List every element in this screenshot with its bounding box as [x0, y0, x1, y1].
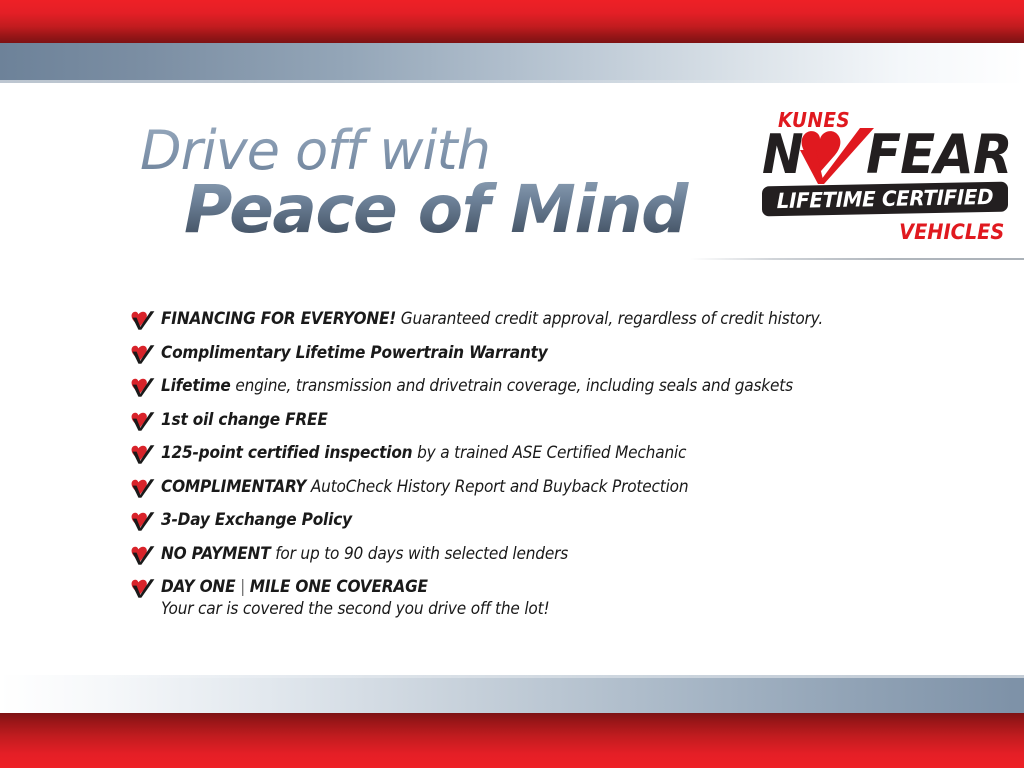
list-item: 1st oil change FREE — [131, 409, 931, 432]
kunes-no-fear-logo: KUNES N FEAR LIFETIME CERTIFIED VEHICLES — [760, 108, 1010, 248]
list-item-text: 1st oil change FREE — [161, 409, 328, 430]
heart-check-icon — [131, 478, 155, 499]
heart-check-icon — [131, 578, 155, 599]
list-item-bold: COMPLIMENTARY — [161, 477, 306, 496]
list-item-text: 3-Day Exchange Policy — [161, 509, 352, 530]
list-item: NO PAYMENT for up to 90 days with select… — [131, 543, 931, 566]
list-item-text: DAY ONE | MILE ONE COVERAGE — [161, 576, 549, 597]
list-item-rest: engine, transmission and drivetrain cove… — [231, 376, 793, 395]
heart-check-icon — [131, 377, 155, 398]
list-item-rest: for up to 90 days with selected lenders — [271, 544, 569, 563]
list-item-text: 125-point certified inspection by a trai… — [161, 442, 686, 463]
top-red-band — [0, 0, 1024, 43]
heart-check-icon — [131, 411, 155, 432]
list-item-rest: by a trained ASE Certified Mechanic — [412, 443, 686, 462]
heart-check-icon — [131, 511, 155, 532]
list-item: FINANCING FOR EVERYONE! Guaranteed credi… — [131, 308, 931, 331]
logo-word-vehicles: VEHICLES — [899, 220, 1004, 244]
list-item: DAY ONE | MILE ONE COVERAGE Your car is … — [131, 576, 931, 620]
list-item-text: Lifetime engine, transmission and drivet… — [161, 375, 793, 396]
heart-check-icon — [131, 545, 155, 566]
logo-banner-label: LIFETIME CERTIFIED — [769, 182, 1000, 216]
list-item-bold: 1st oil change FREE — [161, 410, 328, 429]
top-steel-band — [0, 43, 1024, 83]
list-item-text: Complimentary Lifetime Powertrain Warran… — [161, 342, 548, 363]
list-item: Lifetime engine, transmission and drivet… — [131, 375, 931, 398]
list-item-rest: Guaranteed credit approval, regardless o… — [396, 309, 823, 328]
list-item-rest: AutoCheck History Report and Buyback Pro… — [306, 477, 688, 496]
logo-banner-background: LIFETIME CERTIFIED — [762, 182, 1008, 217]
list-item-bold-part2: MILE ONE COVERAGE — [250, 577, 428, 596]
list-item: Complimentary Lifetime Powertrain Warran… — [131, 342, 931, 365]
list-item: 3-Day Exchange Policy — [131, 509, 931, 532]
list-item-bold-part1: DAY ONE — [161, 577, 235, 596]
logo-no-fear-wordmark: N FEAR — [760, 128, 1010, 188]
list-item-bold: 3-Day Exchange Policy — [161, 510, 352, 529]
bottom-steel-band — [0, 675, 1024, 713]
list-item-bold: Complimentary Lifetime Powertrain Warran… — [161, 343, 548, 362]
list-item-text: FINANCING FOR EVERYONE! Guaranteed credi… — [161, 308, 823, 329]
list-item-text: NO PAYMENT for up to 90 days with select… — [161, 543, 568, 564]
list-item: 125-point certified inspection by a trai… — [131, 442, 931, 465]
heart-check-icon — [131, 444, 155, 465]
headline: Drive off with Peace of Mind — [140, 122, 740, 246]
list-item-subline: Your car is covered the second you drive… — [161, 598, 549, 620]
list-item-bold: NO PAYMENT — [161, 544, 271, 563]
logo-word-fear: FEAR — [866, 128, 1011, 182]
list-item-bold: Lifetime — [161, 376, 231, 395]
list-item: COMPLIMENTARY AutoCheck History Report a… — [131, 476, 931, 499]
list-item-text: COMPLIMENTARY AutoCheck History Report a… — [161, 476, 688, 497]
bottom-red-band — [0, 713, 1024, 768]
logo-divider-rule — [690, 258, 1024, 260]
heart-check-icon — [131, 344, 155, 365]
benefits-list: FINANCING FOR EVERYONE! Guaranteed credi… — [131, 308, 931, 631]
heart-check-icon — [131, 310, 155, 331]
list-item-separator: | — [235, 577, 249, 596]
list-item-bold: 125-point certified inspection — [161, 443, 412, 462]
headline-line-2: Peace of Mind — [184, 174, 740, 246]
list-item-bold: FINANCING FOR EVERYONE! — [161, 309, 396, 328]
